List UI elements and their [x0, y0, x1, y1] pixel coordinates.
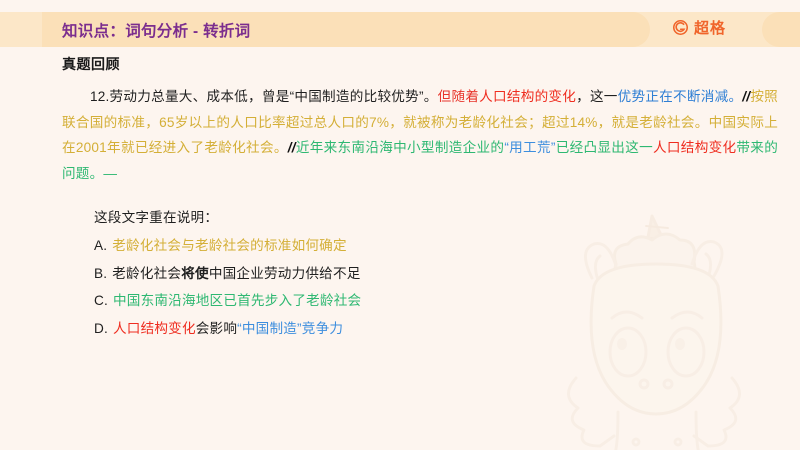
option-1-run-2: 中国企业劳动力供给不足 — [209, 266, 361, 281]
option-key: A. — [94, 238, 107, 253]
passage-run-1: 但随着 — [438, 89, 480, 104]
question-stem: 这段文字重在说明： — [94, 206, 218, 226]
option-2-run-0: 中国东南沿海地区已首先步入了老龄社会 — [113, 293, 361, 308]
option-0-run-0: 老龄化社会与老龄社会的标准如何确定 — [112, 238, 347, 253]
option-key: B. — [94, 266, 107, 281]
passage-text: 12.劳动力总量大、成本低，曾是“中国制造的比较优势”。但随着人口结构的变化，这… — [62, 84, 778, 186]
passage-run-11: 人口结构变化 — [653, 140, 736, 155]
brand-name: 超格 — [694, 17, 726, 38]
passage-run-10: 已经凸显出这一 — [556, 140, 653, 155]
header-pill-right — [762, 12, 800, 47]
passage-run-0: 12.劳动力总量大、成本低，曾是“中国制造的比较优势”。 — [90, 89, 438, 104]
passage-run-2: 人口结构的变化 — [479, 89, 576, 104]
options-list: A.老龄化社会与老龄社会的标准如何确定B.老龄化社会将使中国企业劳动力供给不足C… — [94, 234, 694, 344]
passage-run-13: — — [103, 166, 117, 181]
option-key: D. — [94, 321, 108, 336]
option-text: 老龄化社会与老龄社会的标准如何确定 — [112, 234, 347, 254]
g-circle-logo-icon — [672, 19, 689, 36]
option-row-d[interactable]: D.人口结构变化会影响“中国制造”竞争力 — [94, 317, 694, 345]
option-1-run-1: 将使 — [181, 266, 209, 281]
option-3-run-2: “中国制造” — [237, 321, 302, 336]
page-title: 知识点：词句分析 - 转折词 — [62, 19, 250, 41]
option-key: C. — [94, 293, 108, 308]
option-text: 中国东南沿海地区已首先步入了老龄社会 — [113, 289, 361, 309]
brand-logo: 超格 — [672, 17, 726, 38]
passage-run-9: “用工荒” — [504, 140, 555, 155]
option-3-run-0: 人口结构变化 — [113, 321, 196, 336]
option-3-run-3: 竞争力 — [302, 321, 343, 336]
passage-run-3: ，这一 — [576, 89, 618, 104]
option-row-b[interactable]: B.老龄化社会将使中国企业劳动力供给不足 — [94, 262, 694, 290]
passage-run-4: 优势正在不断消减。 — [618, 89, 743, 104]
option-row-a[interactable]: A.老龄化社会与老龄社会的标准如何确定 — [94, 234, 694, 262]
passage-run-8: 近年来东南沿海中小型制造企业的 — [296, 140, 505, 155]
passage-run-7: // — [288, 140, 296, 155]
section-label: 真题回顾 — [62, 54, 120, 74]
option-text: 老龄化社会将使中国企业劳动力供给不足 — [112, 262, 360, 282]
option-row-c[interactable]: C.中国东南沿海地区已首先步入了老龄社会 — [94, 289, 694, 317]
slide-canvas: 知识点：词句分析 - 转折词 超格 真题回顾 12.劳动力总量大、成本低，曾是“… — [0, 0, 800, 450]
option-1-run-0: 老龄化社会 — [112, 266, 181, 281]
option-text: 人口结构变化会影响“中国制造”竞争力 — [113, 317, 343, 337]
option-3-run-1: 会影响 — [196, 321, 237, 336]
